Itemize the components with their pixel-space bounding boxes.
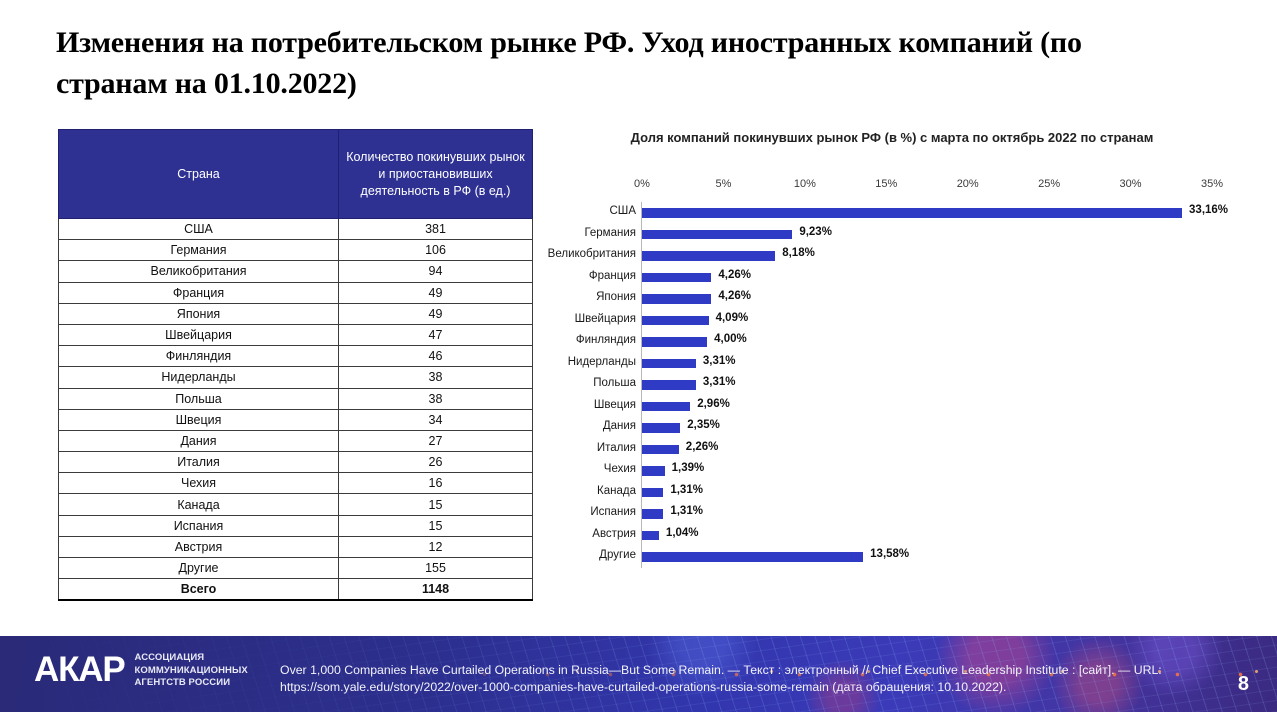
chart-bar-row: Канада1,31% [540,482,1240,504]
table-row: Италия26 [59,452,533,473]
chart-bar-row: Германия9,23% [540,224,1240,246]
chart-category-label: Швеция [594,399,636,411]
chart-bar [642,509,663,519]
table-row: Нидерланды38 [59,367,533,388]
chart-bar-row: Италия2,26% [540,439,1240,461]
chart-bar-row: Швейцария4,09% [540,310,1240,332]
cell-count: 94 [339,261,533,282]
cell-count: 15 [339,515,533,536]
country-count-table: Страна Количество покинувших рынок и при… [58,129,506,601]
chart-bar-row: Франция4,26% [540,267,1240,289]
akar-logo: АКАР АССОЦИАЦИЯКОММУНИКАЦИОННЫХАГЕНТСТВ … [34,650,248,690]
x-axis-tick-label: 20% [957,178,979,190]
table-row: Польша38 [59,388,533,409]
chart-bar [642,488,663,498]
chart-bar [642,316,709,326]
chart-bar-value-label: 4,26% [718,269,751,281]
chart-bar-value-label: 1,31% [670,505,703,517]
bar-chart: Доля компаний покинувших рынок РФ (в %) … [540,128,1240,598]
chart-bar-value-label: 1,39% [672,462,705,474]
column-header-count: Количество покинувших рынок и приостанов… [339,130,533,219]
cell-count: 46 [339,346,533,367]
chart-bar-value-label: 13,58% [870,548,909,560]
chart-category-label: Австрия [592,528,636,540]
table-row: Германия106 [59,240,533,261]
chart-bar-value-label: 4,26% [718,290,751,302]
logo-subtitle-line: АССОЦИАЦИЯ [134,652,247,665]
chart-category-label: США [609,205,636,217]
chart-bar [642,402,690,412]
chart-category-label: Чехия [604,463,636,475]
table-row: Япония49 [59,303,533,324]
chart-bar-value-label: 9,23% [799,226,832,238]
x-axis-tick-label: 0% [634,178,650,190]
x-axis-tick-label: 25% [1038,178,1060,190]
cell-count: 47 [339,324,533,345]
chart-category-label: Дания [603,420,636,432]
table-row: Великобритания94 [59,261,533,282]
cell-country: Япония [59,303,339,324]
cell-count: 49 [339,303,533,324]
cell-count: 26 [339,452,533,473]
table-row: Испания15 [59,515,533,536]
chart-bar-row: Дания2,35% [540,417,1240,439]
cell-country: США [59,219,339,240]
x-axis-tick-label: 30% [1120,178,1142,190]
logo-subtitle: АССОЦИАЦИЯКОММУНИКАЦИОННЫХАГЕНТСТВ РОССИ… [134,650,247,690]
cell-country: Нидерланды [59,367,339,388]
table-row: США381 [59,219,533,240]
cell-count: 34 [339,409,533,430]
cell-country: Великобритания [59,261,339,282]
cell-count: 15 [339,494,533,515]
cell-country: Франция [59,282,339,303]
cell-country: Германия [59,240,339,261]
chart-bar-value-label: 8,18% [782,247,815,259]
cell-count: 106 [339,240,533,261]
chart-category-label: Великобритания [548,248,636,260]
chart-bar [642,380,696,390]
chart-category-label: Испания [590,506,636,518]
cell-count: 16 [339,473,533,494]
chart-bar [642,423,680,433]
cell-count: 27 [339,430,533,451]
chart-category-label: Франция [589,270,636,282]
chart-bar-value-label: 2,26% [686,441,719,453]
chart-bar [642,552,863,562]
cell-count: 381 [339,219,533,240]
table-total-row: Всего1148 [59,579,533,601]
cell-country: Швеция [59,409,339,430]
table-row: Чехия16 [59,473,533,494]
chart-bar-value-label: 3,31% [703,355,736,367]
cell-count: 1148 [339,579,533,601]
chart-bar [642,337,707,347]
cell-count: 49 [339,282,533,303]
chart-bar-row: Финляндия4,00% [540,331,1240,353]
cell-country: Швейцария [59,324,339,345]
chart-bar-value-label: 1,31% [670,484,703,496]
chart-category-label: Италия [597,442,636,454]
x-axis-tick-label: 15% [875,178,897,190]
logo-subtitle-line: КОММУНИКАЦИОННЫХ [134,665,247,678]
cell-country: Австрия [59,536,339,557]
cell-country: Канада [59,494,339,515]
chart-bar-row: Швеция2,96% [540,396,1240,418]
chart-bar-row: Нидерланды3,31% [540,353,1240,375]
chart-bar [642,359,696,369]
chart-bar [642,445,679,455]
chart-bar-row: США33,16% [540,202,1240,224]
cell-country: Чехия [59,473,339,494]
chart-category-label: Нидерланды [568,356,636,368]
chart-bar [642,251,775,261]
table-row: Швеция34 [59,409,533,430]
page-number: 8 [1238,673,1249,696]
cell-count: 38 [339,367,533,388]
cell-country: Италия [59,452,339,473]
chart-title: Доля компаний покинувших рынок РФ (в %) … [602,128,1182,147]
chart-plot-area: США33,16%Германия9,23%Великобритания8,18… [540,202,1240,582]
table-body: США381Германия106Великобритания94Франция… [59,219,533,601]
chart-bar-value-label: 4,00% [714,333,747,345]
chart-bar [642,294,711,304]
chart-bar-row: Испания1,31% [540,503,1240,525]
chart-bar-row: Чехия1,39% [540,460,1240,482]
chart-x-axis: 0%5%10%15%20%25%30%35% [540,178,1240,196]
cell-count: 155 [339,558,533,579]
table-row: Финляндия46 [59,346,533,367]
x-axis-tick-label: 10% [794,178,816,190]
cell-country: Польша [59,388,339,409]
logo-subtitle-line: АГЕНТСТВ РОССИИ [134,677,247,690]
chart-bar-value-label: 3,31% [703,376,736,388]
table-row: Франция49 [59,282,533,303]
cell-country: Другие [59,558,339,579]
chart-bar [642,230,792,240]
table-row: Дания27 [59,430,533,451]
chart-bar-value-label: 4,09% [716,312,749,324]
chart-bar-row: Другие13,58% [540,546,1240,568]
chart-category-label: Япония [596,291,636,303]
table-row: Канада15 [59,494,533,515]
cell-count: 38 [339,388,533,409]
x-axis-tick-label: 5% [715,178,731,190]
chart-category-label: Канада [597,485,636,497]
source-citation: Over 1,000 Companies Have Curtailed Oper… [280,662,1220,696]
chart-bar [642,466,665,476]
chart-category-label: Финляндия [576,334,636,346]
cell-country: Испания [59,515,339,536]
cell-country: Дания [59,430,339,451]
chart-bar-value-label: 1,04% [666,527,699,539]
chart-category-label: Германия [584,227,636,239]
chart-category-label: Швейцария [575,313,636,325]
chart-bar [642,273,711,283]
table-header-row: Страна Количество покинувших рынок и при… [59,130,533,219]
chart-bar-value-label: 2,35% [687,419,720,431]
table-row: Австрия12 [59,536,533,557]
chart-category-label: Польша [593,377,636,389]
table-row: Другие155 [59,558,533,579]
chart-bar-row: Япония4,26% [540,288,1240,310]
page-title: Изменения на потребительском рынке РФ. У… [56,22,1156,104]
x-axis-tick-label: 35% [1201,178,1223,190]
chart-category-label: Другие [599,549,636,561]
logo-wordmark: АКАР [34,650,124,690]
cell-country: Финляндия [59,346,339,367]
chart-bar-value-label: 2,96% [697,398,730,410]
chart-bar-row: Австрия1,04% [540,525,1240,547]
chart-bar-value-label: 33,16% [1189,204,1228,216]
table-row: Швейцария47 [59,324,533,345]
chart-bar [642,208,1182,218]
chart-bar-row: Польша3,31% [540,374,1240,396]
cell-country: Всего [59,579,339,601]
chart-bar [642,531,659,541]
column-header-country: Страна [59,130,339,219]
chart-bar-row: Великобритания8,18% [540,245,1240,267]
cell-count: 12 [339,536,533,557]
